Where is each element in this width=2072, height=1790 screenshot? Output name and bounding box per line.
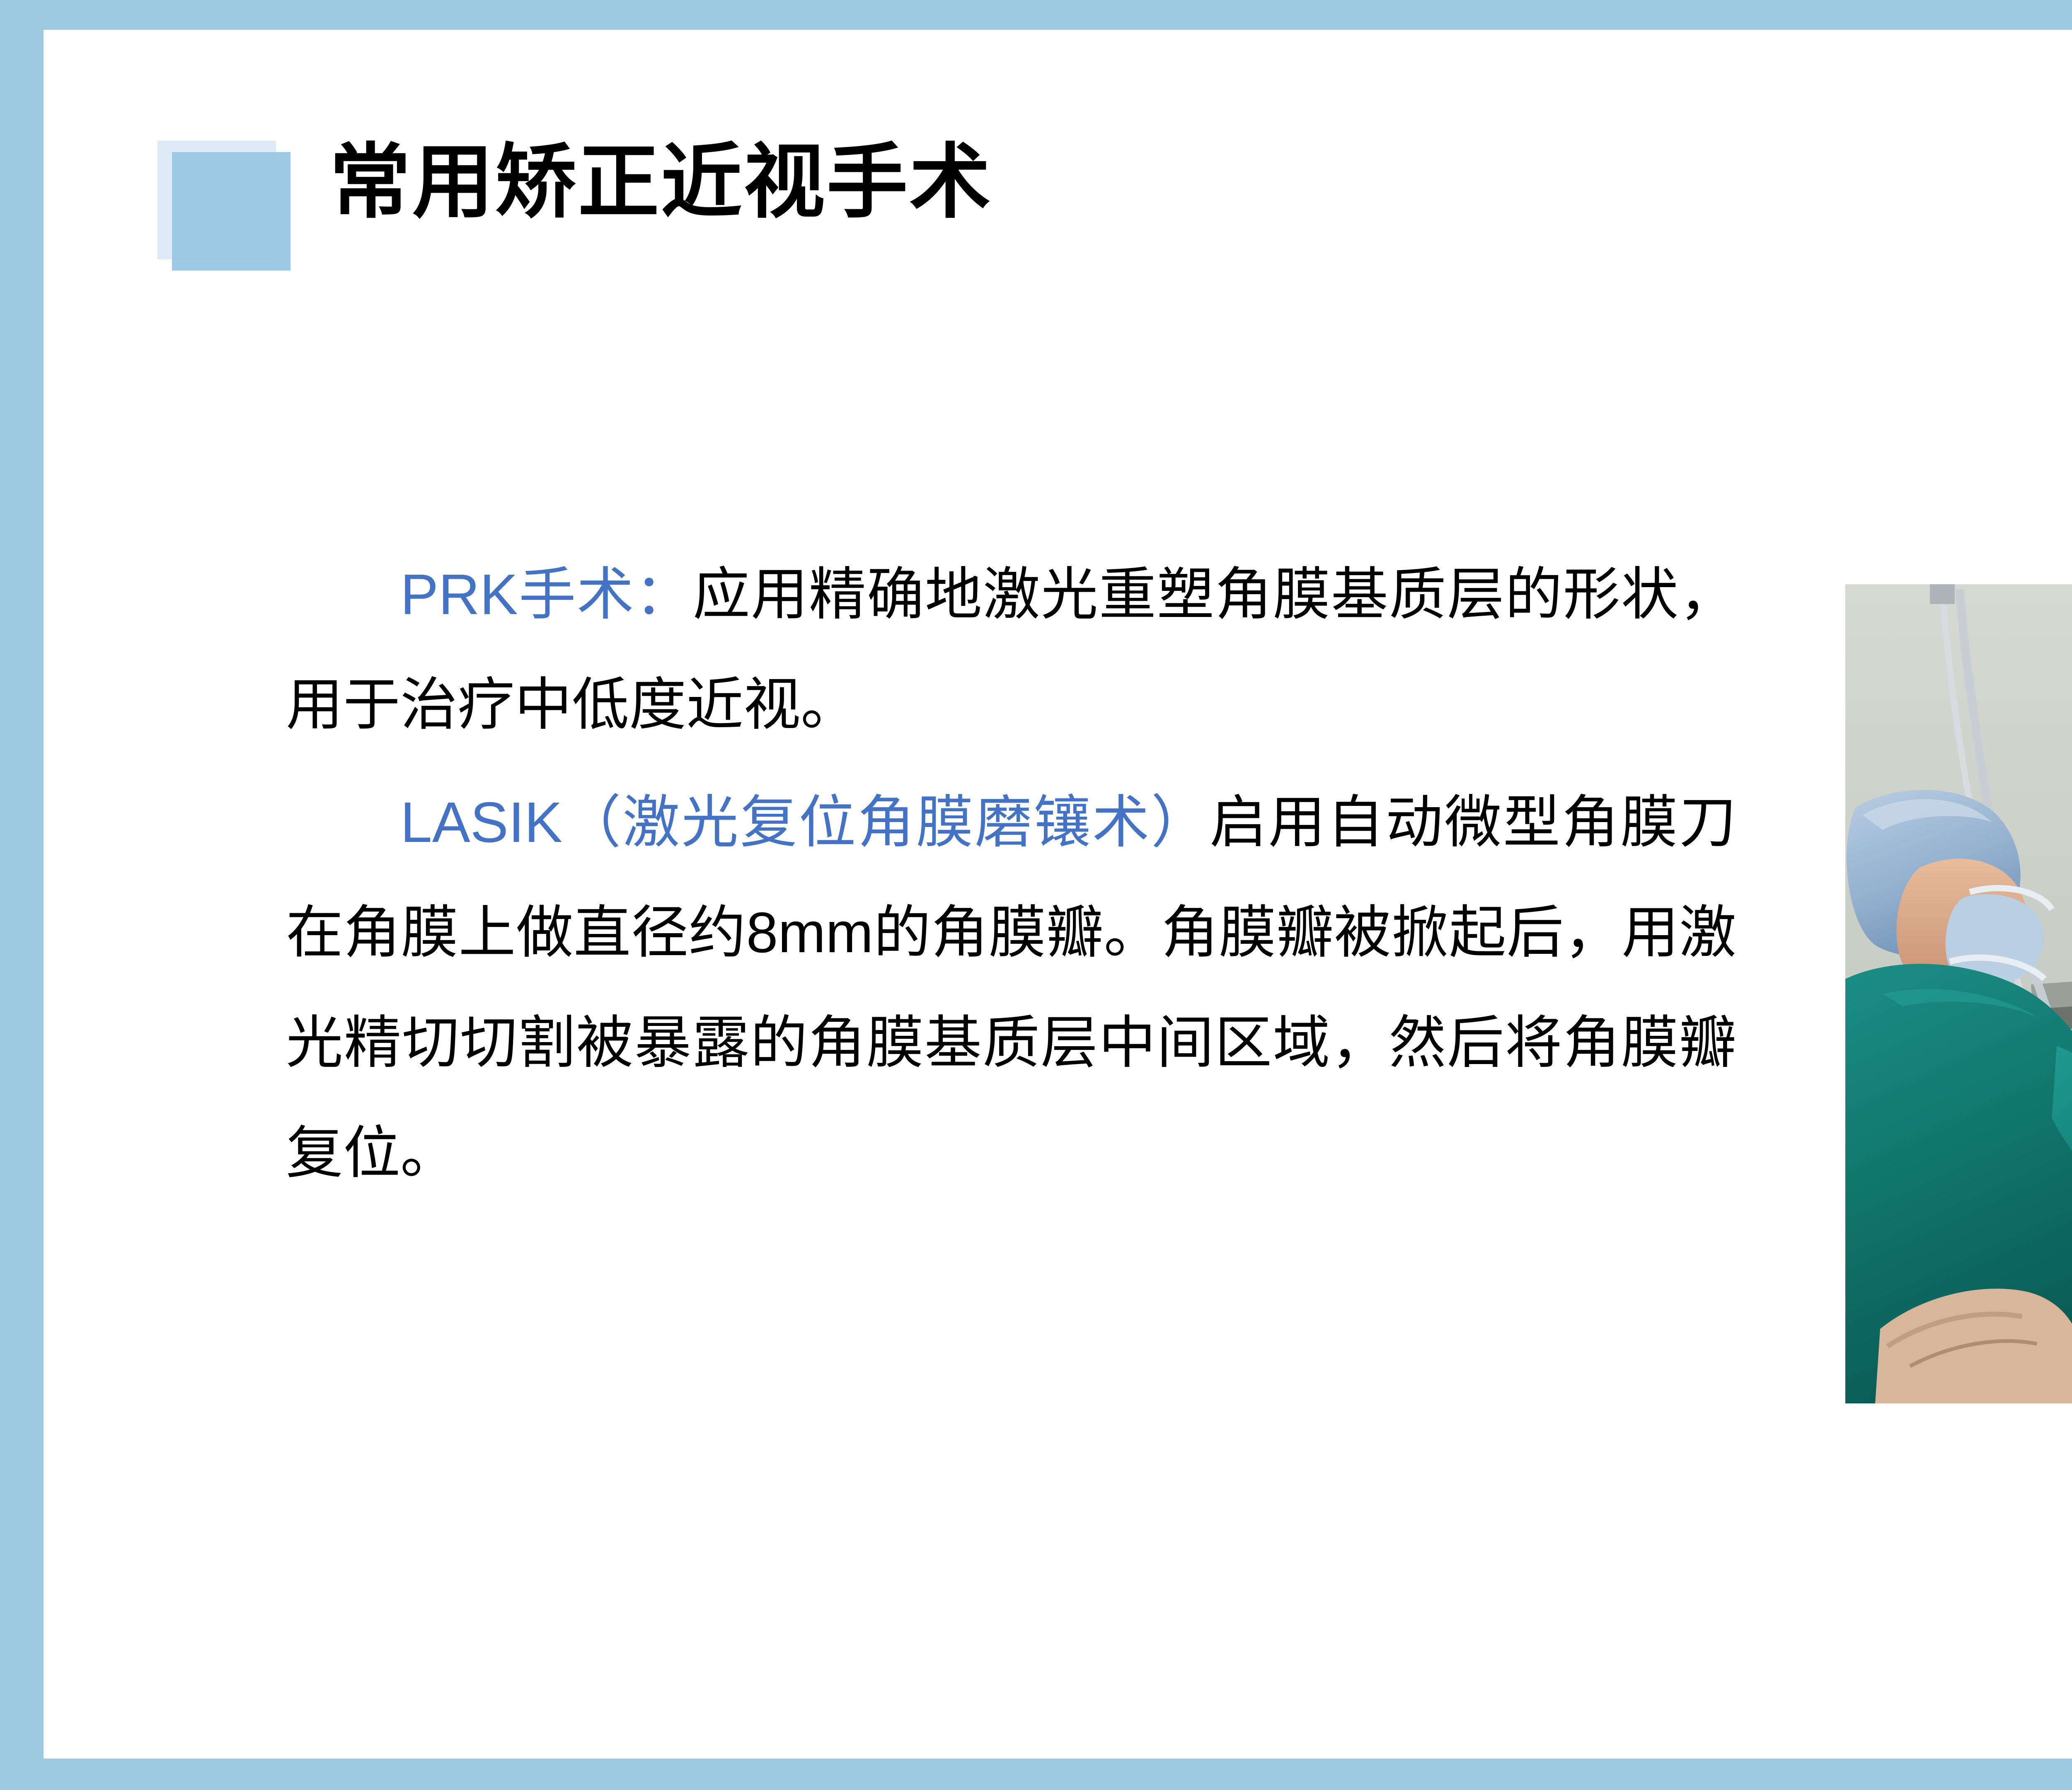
presentation-slide: 常用矫正近视手术 PRK手术：应用精确地激光重塑角膜基质层的形状，用于治疗中低度… <box>0 0 2072 1790</box>
paragraph-prk: PRK手术：应用精确地激光重塑角膜基质层的形状，用于治疗中低度近视。 <box>286 539 1736 760</box>
title-decoration-square-front <box>172 152 290 271</box>
paragraph-lasik: LASIK（激光复位角膜磨镶术）启用自动微型角膜刀在角膜上做直径约8mm的角膜瓣… <box>286 767 1736 1208</box>
lasik-term-label: LASIK（激光复位角膜磨镶术） <box>400 791 1210 854</box>
slide-content-area: 常用矫正近视手术 PRK手术：应用精确地激光重塑角膜基质层的形状，用于治疗中低度… <box>44 30 2072 1759</box>
surgery-photo <box>1845 584 2072 1403</box>
body-text-block: PRK手术：应用精确地激光重塑角膜基质层的形状，用于治疗中低度近视。 LASIK… <box>286 539 1736 1208</box>
prk-term-label: PRK手术： <box>400 563 693 626</box>
page-title: 常用矫正近视手术 <box>329 128 2070 244</box>
